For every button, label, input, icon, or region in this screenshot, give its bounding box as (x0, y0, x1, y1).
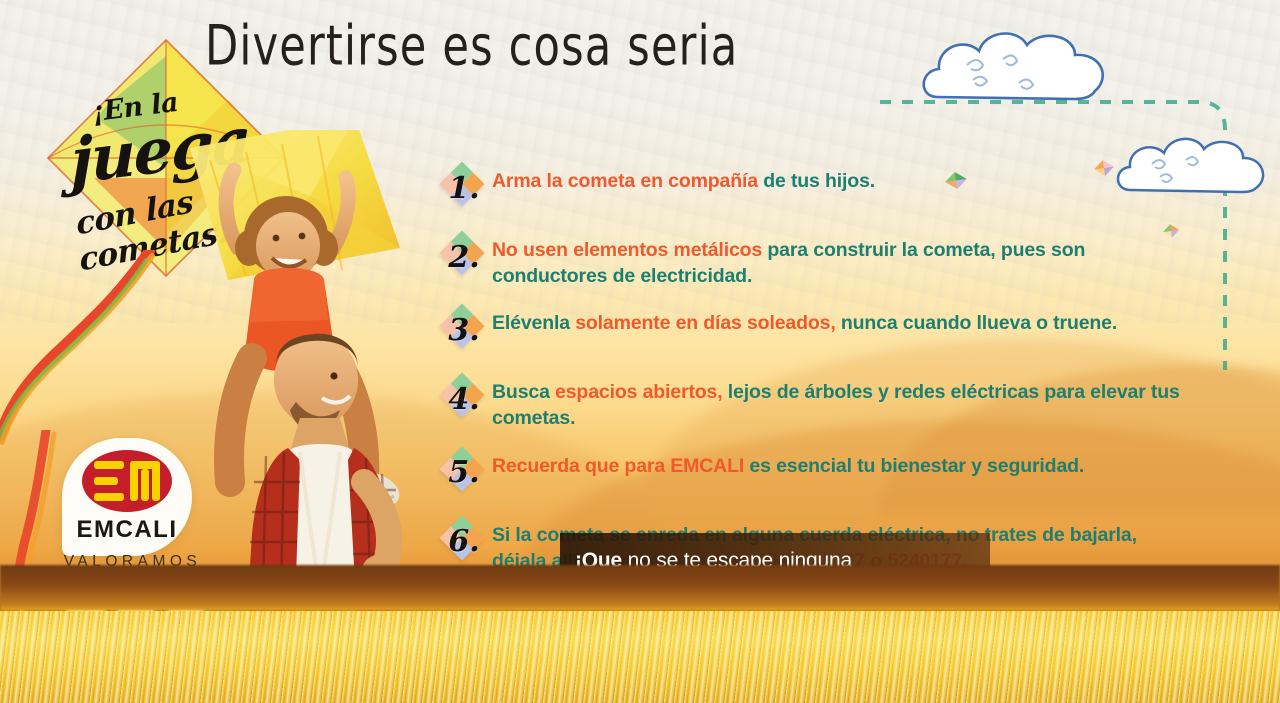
recommendation-text: Elévenla solamente en días soleados, nun… (492, 302, 1180, 337)
page-title: Divertirse es cosa seria (205, 18, 738, 73)
kite-bullet-icon: 2. (440, 229, 486, 285)
recommendation-number: 1. (440, 160, 486, 216)
recommendation-plain: de tus hijos. (763, 170, 875, 192)
recommendation-plain: Elévenla (492, 312, 575, 334)
wheat-field (0, 611, 1280, 703)
recommendation-text: Arma la cometa en compañía de tus hijos. (492, 160, 1180, 195)
recommendation-highlight: solamente en días soleados, (575, 312, 835, 334)
recommendation-item: 3.Elévenla solamente en días soleados, n… (440, 302, 1180, 358)
recommendation-plain: Busca (492, 381, 555, 403)
kite-bullet-icon: 5. (440, 445, 486, 501)
logo-wordmark: EMCALI (62, 516, 192, 544)
kite-bullet-icon: 3. (440, 302, 486, 358)
recommendation-highlight: No usen elementos metálicos (492, 239, 767, 261)
recommendation-plain: es esencial tu bienestar y seguridad. (749, 455, 1084, 477)
recommendation-highlight: Recuerda que para EMCALI (492, 455, 749, 477)
recommendations-list: 1.Arma la cometa en compañía de tus hijo… (440, 160, 1180, 587)
kite-badge-caption: ¡En la juega con las cometas! (52, 90, 292, 280)
recommendation-text: Recuerda que para EMCALI es esencial tu … (492, 445, 1180, 480)
recommendation-text: Busca espacios abiertos, lejos de árbole… (492, 371, 1180, 431)
recommendation-item: 5.Recuerda que para EMCALI es esencial t… (440, 445, 1180, 501)
recommendation-number: 2. (440, 229, 486, 285)
recommendation-number: 6. (440, 514, 486, 570)
field-shadow-band (0, 565, 1280, 611)
poster-canvas: ¡En la juega con las cometas! (0, 0, 1280, 703)
recommendation-highlight: Arma la cometa en compañía (492, 170, 763, 192)
kite-bullet-icon: 1. (440, 160, 486, 216)
recommendation-number: 5. (440, 445, 486, 501)
recommendation-text: No usen elementos metálicos para constru… (492, 229, 1180, 289)
recommendation-number: 4. (440, 371, 486, 427)
recommendation-plain: nunca cuando llueva o truene. (836, 312, 1118, 334)
logo-oval (82, 450, 172, 512)
recommendation-number: 3. (440, 302, 486, 358)
recommendation-item: 4.Busca espacios abiertos, lejos de árbo… (440, 371, 1180, 431)
kite-bullet-icon: 6. (440, 514, 486, 570)
cloud-icon (915, 25, 1120, 115)
recommendation-highlight: espacios abiertos, (555, 381, 722, 403)
recommendation-item: 1.Arma la cometa en compañía de tus hijo… (440, 160, 1180, 216)
emcali-logo: EMCALI (62, 438, 192, 563)
kite-bullet-icon: 4. (440, 371, 486, 427)
recommendation-item: 2.No usen elementos metálicos para const… (440, 229, 1180, 289)
